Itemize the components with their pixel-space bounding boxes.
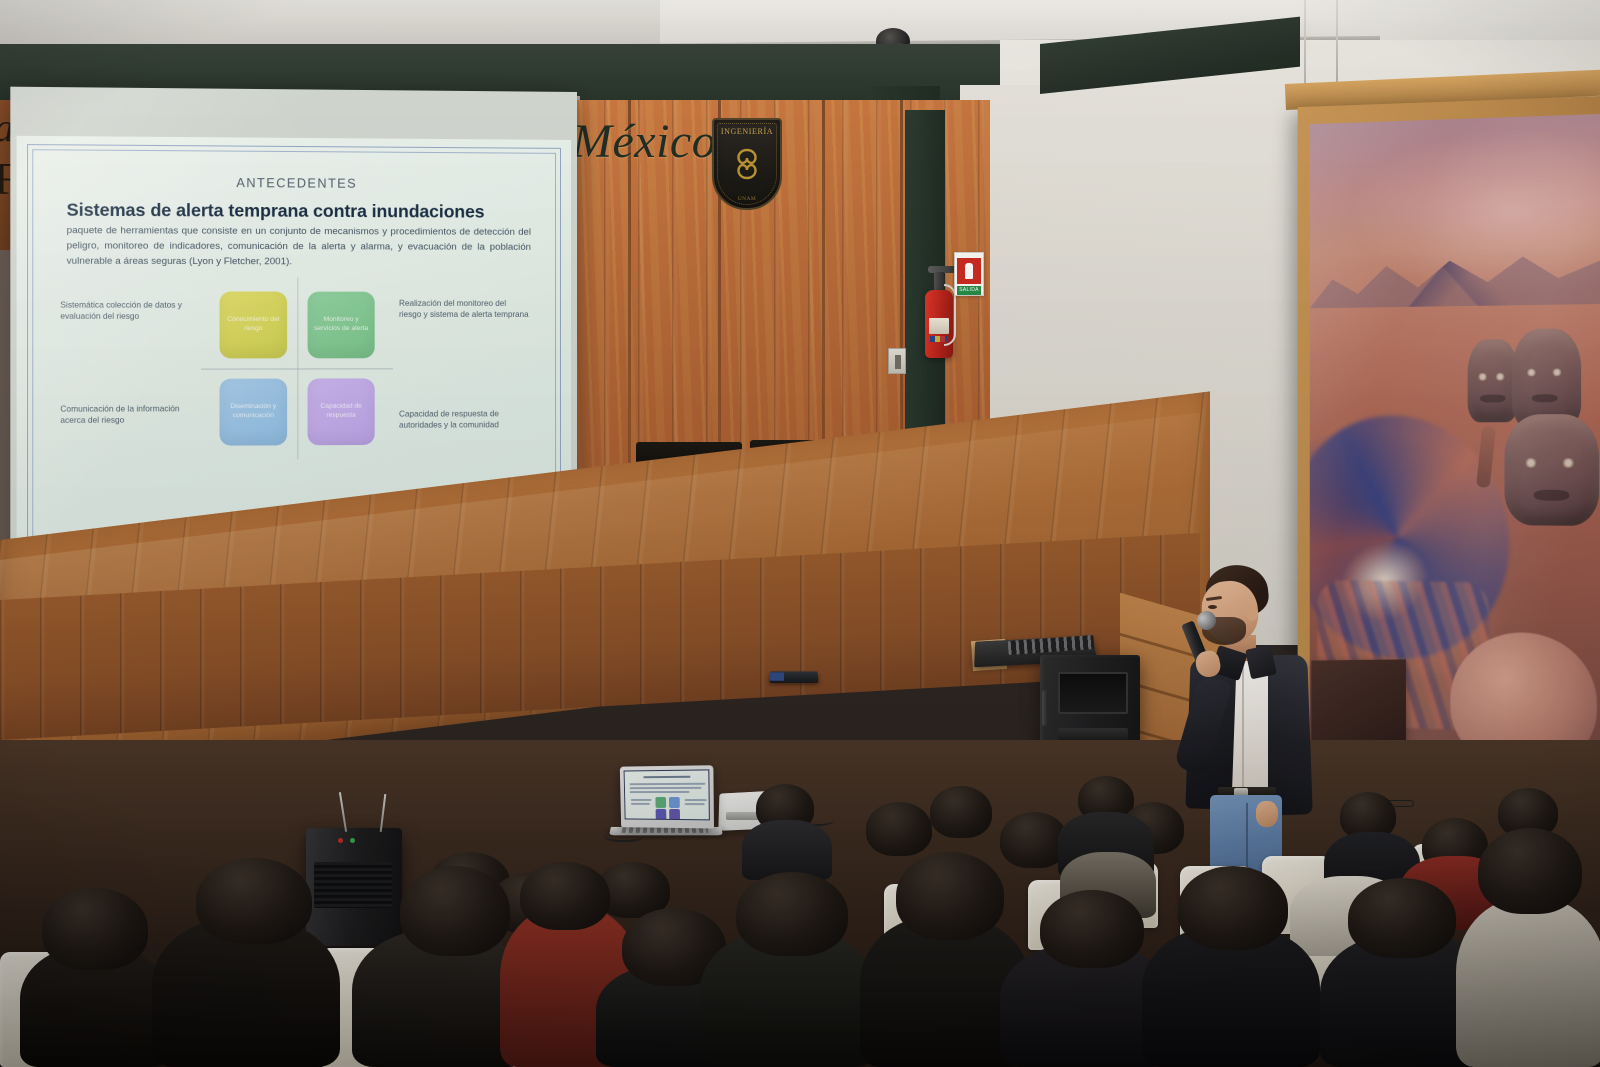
audience-head [736,872,848,956]
olmec-mouth [1480,395,1505,403]
slide-title: Sistemas de alerta temprana contra inund… [67,199,485,222]
olmec-head-icon [1504,414,1599,526]
presenter-speaker [1160,565,1340,895]
ingenieria-crest: INGENIERÍA UNAM [712,118,782,210]
audience-head [400,866,510,956]
extinguisher-label [929,318,949,334]
extinguisher-gauge-strip [930,336,948,342]
olmec-eye [1477,373,1488,381]
extinguisher-sign-icon [957,258,981,284]
audience-head [42,888,148,970]
crest-emblem-icon [727,144,767,184]
olmec-eye [1524,458,1538,468]
audience-head [930,786,992,838]
jacket-collar-right [1245,645,1277,680]
laptop-slide-text-line [630,787,702,789]
light-switch[interactable] [888,348,906,374]
auditorium-scene: México INGENIERÍA UNAM a F SALIDA [0,0,1600,1067]
audience-head [1348,878,1456,958]
laptop-slide-text-line [631,803,650,805]
olmec-eye [1495,373,1506,381]
status-led-icon [350,838,355,843]
laptop-slide-box-violet [669,809,680,820]
exit-sign: SALIDA [957,286,981,295]
olmec-eye [1552,368,1563,376]
crest-label: INGENIERÍA [714,127,780,136]
presenter-ear [1246,605,1258,621]
audience-head [1178,866,1288,950]
laptop-slide-text-line [631,799,652,801]
slide-caption-top-right: Realización del monitoreo del riesgo y s… [399,298,530,321]
speaker-grille [314,862,392,908]
slide-caption-top-left: Sistemática colección de datos y evaluac… [60,299,194,322]
speaker-brand-badge [1058,728,1128,740]
mural-hanging-wire [1336,0,1338,86]
slide-box-diseminacion: Diseminación y comunicación [220,379,288,446]
laptop-slide-box-green [655,797,666,808]
slide-quadrant-diagram: Conocimiento del riesgo Monitoreo y serv… [220,291,375,445]
slide-caption-bottom-right: Capacidad de respuesta de autoridades y … [399,408,530,432]
speaker-handle[interactable] [1042,690,1048,726]
presenter-eye [1208,605,1217,609]
device-blue-panel [770,672,784,680]
olmec-head-icon [1468,339,1519,422]
venue-sign-mexico: México [572,118,716,166]
laptop-slide-box-indigo [656,809,667,820]
laptop-slide-text-line [685,803,705,805]
quadrant-divider-vertical [297,277,298,459]
laptop-slide-text-line [629,783,705,785]
speaker-bass-port [1058,672,1128,714]
presenter-laptop[interactable] [620,765,714,828]
switch-toggle-icon [895,355,901,369]
slide-box-conocimiento: Conocimiento del riesgo [220,291,288,358]
olmec-head-icon [1512,328,1581,428]
audience-head [1478,828,1582,914]
audience-shoulders [742,820,832,880]
eyeglasses-icon [1352,862,1386,869]
presenter-pocket-hand [1256,801,1278,827]
olmec-mouth [1534,490,1569,501]
slide-kicker: ANTECEDENTES [17,175,571,192]
extinguisher-pictogram [965,263,973,279]
audience-head [866,802,932,856]
laptop-slide-text-line [630,791,690,793]
extinguisher-neck [934,272,944,292]
laptop-slide-text-line [685,799,707,801]
olmec-eye [1526,369,1537,377]
olmec-mouth [1532,394,1558,402]
laptop-power-cable [604,826,644,842]
slide-box-capacidad: Capacidad de respuesta [308,378,375,445]
laptop-screen-mirror [624,769,710,820]
power-led-icon [338,838,343,843]
mural-mountain-range [1310,234,1600,308]
slide-caption-bottom-left: Comunicación de la información acerca de… [60,403,194,427]
slide-body-text: paquete de herramientas que consiste en … [67,224,531,271]
laptop-slide-box-blue [669,797,680,808]
olmec-eye [1561,458,1575,468]
crest-sublabel: UNAM [714,196,780,202]
ceiling-left-section [0,0,660,46]
audience-front-figure-light [1456,898,1600,1067]
audience-head [896,852,1004,940]
audience-head [196,858,312,944]
shirt-placket [1242,667,1244,787]
eyeglasses-icon [1386,800,1414,807]
audience-head [520,862,610,930]
slide-box-monitoreo: Monitoreo y servicios de alerta [308,292,375,359]
audience-head [1040,890,1144,968]
laptop-slide-title-line [644,776,691,778]
